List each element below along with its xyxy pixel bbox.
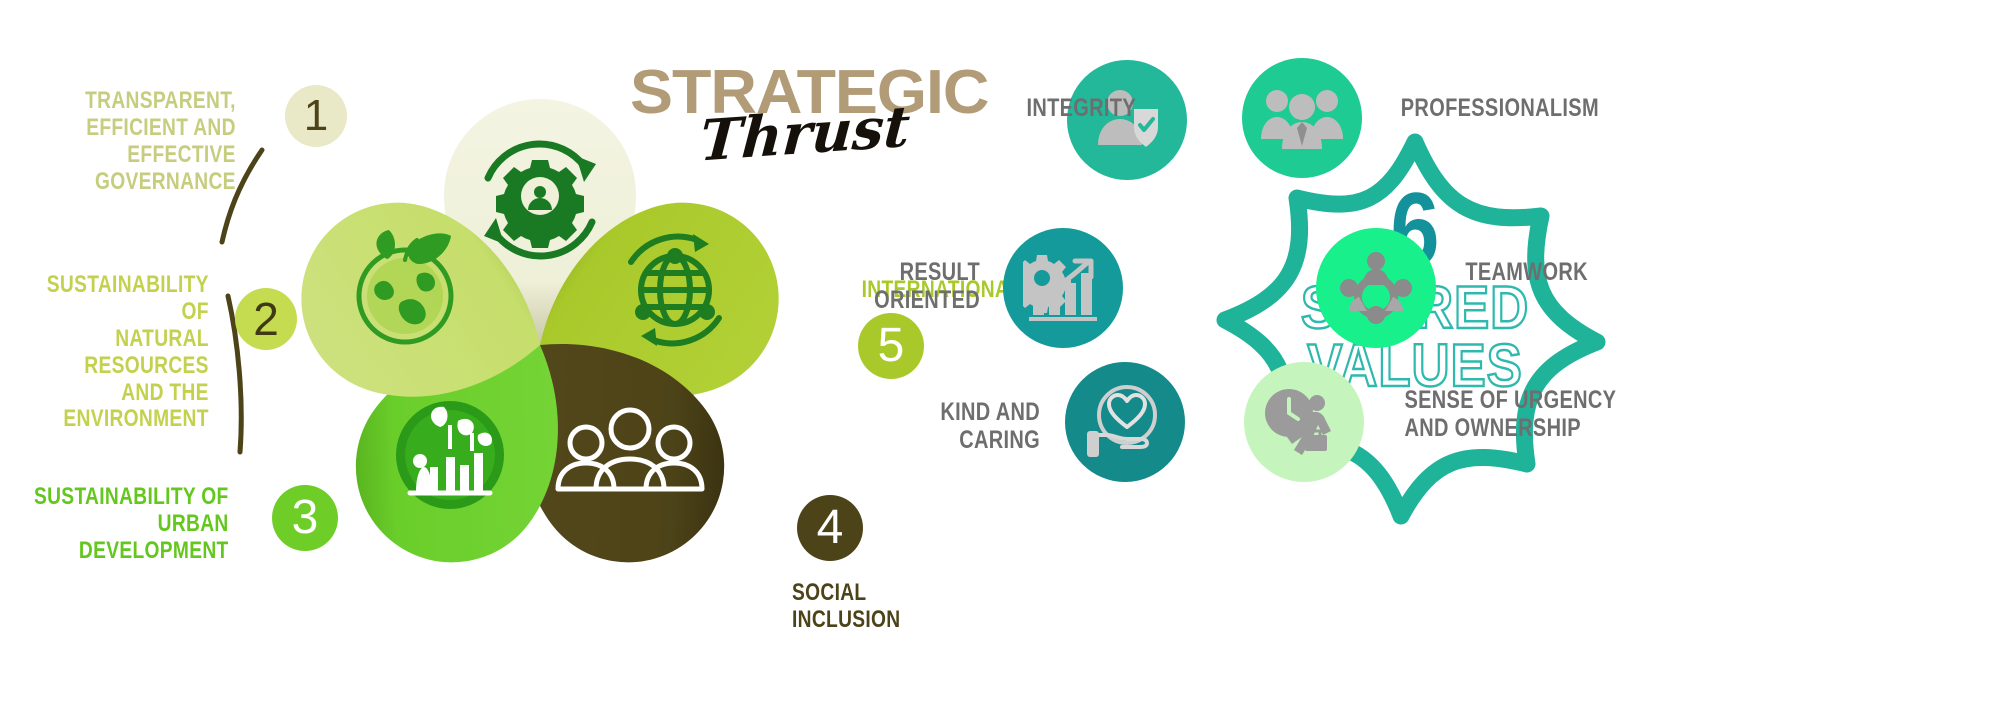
thrust-number-3[interactable]: 3 bbox=[272, 485, 338, 551]
gear-growth-chart-icon bbox=[1023, 251, 1103, 325]
thrust-number-2[interactable]: 2 bbox=[235, 288, 297, 350]
thrust-label-4: SOCIAL INCLUSION bbox=[770, 580, 990, 634]
thrust-label-2: SUSTAINABILITY OF NATURAL RESOURCES AND … bbox=[0, 272, 232, 433]
value-circle-result-oriented[interactable] bbox=[1003, 228, 1123, 348]
three-business-people-icon bbox=[1259, 81, 1345, 155]
value-label-kind-and-caring: KIND AND CARING bbox=[860, 398, 1060, 454]
team-connection-icon bbox=[1337, 249, 1415, 327]
value-label-teamwork: TEAMWORK bbox=[1450, 258, 1700, 286]
value-label-integrity: INTEGRITY bbox=[965, 94, 1155, 122]
value-label-professionalism: PROFESSIONALISM bbox=[1376, 94, 1676, 122]
thrust-number-5[interactable]: 5 bbox=[858, 313, 924, 379]
value-circle-teamwork[interactable] bbox=[1316, 228, 1436, 348]
value-label-sense-of-urgency: SENSE OF URGENCY AND OWNERSHIP bbox=[1378, 386, 1678, 442]
urban-trees-buildings-icon bbox=[396, 401, 504, 509]
value-circle-professionalism[interactable] bbox=[1242, 58, 1362, 178]
thrust-label-3: SUSTAINABILITY OF URBAN DEVELOPMENT bbox=[0, 484, 254, 565]
strategic-thrust-panel: STRATEGIC Thrust TRANSPARENT, EFFICIENT … bbox=[0, 0, 1010, 706]
title-thrust-script: Thrust bbox=[698, 98, 911, 169]
value-circle-kind-and-caring[interactable] bbox=[1065, 362, 1185, 482]
shared-values-panel: 6 SHARED VALUES INTEGRITY bbox=[1010, 0, 2000, 706]
infographic-canvas: STRATEGIC Thrust TRANSPARENT, EFFICIENT … bbox=[0, 0, 2000, 706]
thrust-number-4[interactable]: 4 bbox=[797, 495, 863, 561]
strategic-thrust-title: STRATEGIC Thrust bbox=[630, 62, 960, 192]
thrust-number-1[interactable]: 1 bbox=[285, 85, 347, 147]
gear-person-cycle-icon bbox=[484, 144, 596, 256]
value-circle-sense-of-urgency[interactable] bbox=[1244, 362, 1364, 482]
clock-running-person-icon bbox=[1263, 383, 1345, 461]
hand-heart-icon bbox=[1085, 383, 1165, 461]
thrust-label-1: TRANSPARENT, EFFICIENT AND EFFECTIVE GOV… bbox=[0, 88, 262, 196]
value-label-result-oriented: RESULT ORIENTED bbox=[800, 258, 1000, 314]
